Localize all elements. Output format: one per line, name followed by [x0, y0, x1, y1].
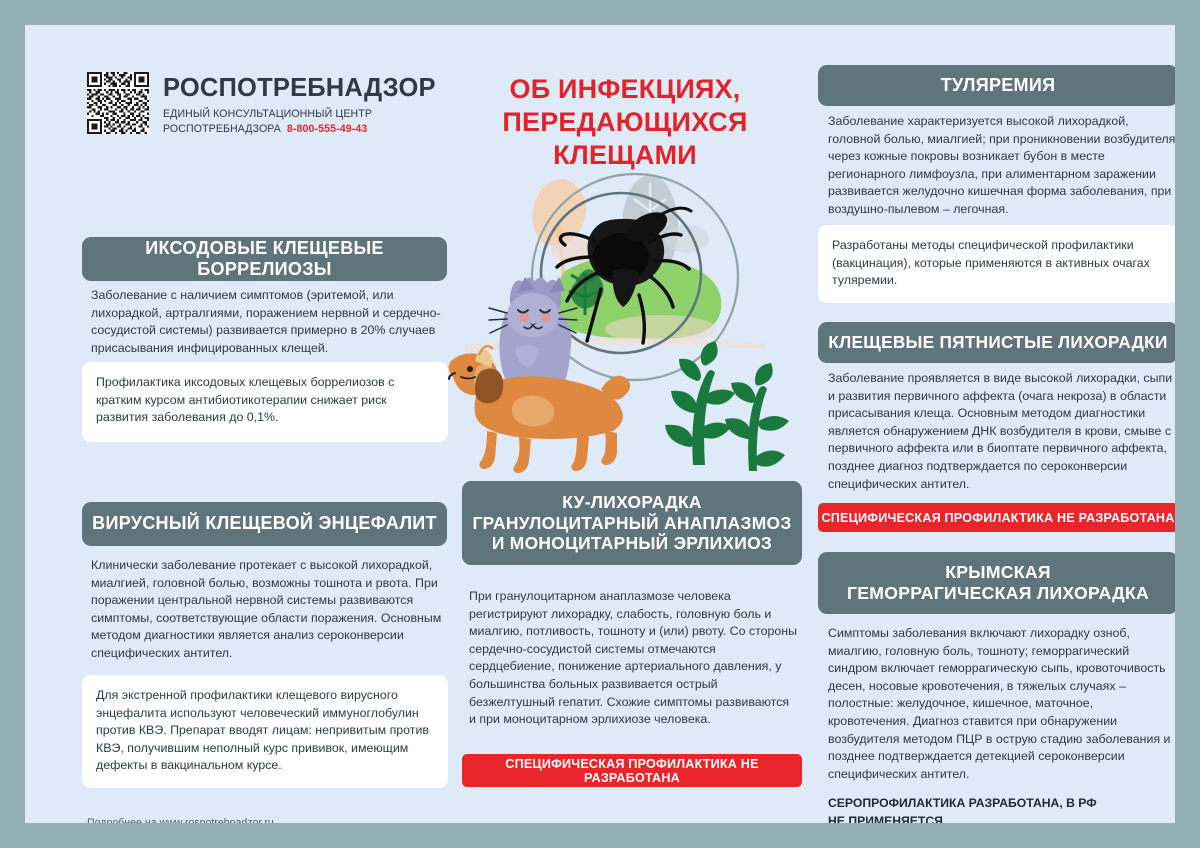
section-heading-qfever-line3: И МОНОЦИТАРНЫЙ ЭРЛИХИОЗ — [472, 533, 791, 554]
page-title-line2: ПЕРЕДАЮЩИХСЯ КЛЕЩАМИ — [430, 106, 820, 172]
section-heading-cchf-line2: ГЕМОРРАГИЧЕСКАЯ ЛИХОРАДКА — [847, 583, 1149, 604]
section-heading-cchf: КРЫМСКАЯ ГЕМОРРАГИЧЕСКАЯ ЛИХОРАДКА — [818, 552, 1175, 614]
page-title: ОБ ИНФЕКЦИЯХ, ПЕРЕДАЮЩИХСЯ КЛЕЩАМИ — [430, 73, 820, 172]
status-badge-no-prophylaxis-qfever: СПЕЦИФИЧЕСКАЯ ПРОФИЛАКТИКА НЕ РАЗРАБОТАН… — [462, 754, 802, 787]
section-heading-qfever-line2: ГРАНУЛОЦИТАРНЫЙ АНАПЛАЗМОЗ — [472, 513, 791, 534]
section-heading-spotted-fevers: КЛЕЩЕВЫЕ ПЯТНИСТЫЕ ЛИХОРАДКИ — [818, 322, 1175, 363]
brand-subtitle-org: РОСПОТРЕБНАДЗОРА — [163, 123, 281, 135]
section-card-tularemia: Разработаны методы специфической профила… — [818, 225, 1175, 303]
section-note-cchf: СЕРОПРОФИЛАКТИКА РАЗРАБОТАНА, В РФ НЕ ПР… — [828, 795, 1175, 823]
brand-subtitle-line2: РОСПОТРЕБНАДЗОРА8-800-555-49-43 — [163, 123, 367, 135]
section-heading-borreliosis: ИКСОДОВЫЕ КЛЕЩЕВЫЕ БОРРЕЛИОЗЫ — [82, 237, 447, 281]
section-text-encephalitis: Клинически заболевание протекает с высок… — [91, 557, 443, 663]
section-heading-qfever: КУ-ЛИХОРАДКА ГРАНУЛОЦИТАРНЫЙ АНАПЛАЗМОЗ … — [462, 481, 802, 565]
brand-title: РОСПОТРЕБНАДЗОР — [163, 74, 436, 103]
section-note-cchf-line1: СЕРОПРОФИЛАКТИКА РАЗРАБОТАНА, В РФ — [828, 795, 1175, 813]
hotline-phone[interactable]: 8-800-555-49-43 — [287, 123, 367, 135]
section-note-cchf-line2: НЕ ПРИМЕНЯЕТСЯ — [828, 813, 1175, 823]
section-text-cchf: Симптомы заболевания включают лихорадку … — [828, 625, 1175, 783]
tick-illustration — [425, 165, 825, 485]
section-card-encephalitis: Для экстренной профилактики клещевого ви… — [82, 675, 448, 788]
page-title-line1: ОБ ИНФЕКЦИЯХ, — [430, 73, 820, 106]
section-text-spotted-fevers: Заболевание проявляется в виде высокой л… — [828, 370, 1175, 493]
section-text-tularemia: Заболевание характеризуется высокой лихо… — [828, 113, 1175, 219]
qr-code-icon — [87, 72, 149, 134]
poster-canvas: РОСПОТРЕБНАДЗОР ЕДИНЫЙ КОНСУЛЬТАЦИОННЫЙ … — [25, 25, 1175, 823]
brand-subtitle-line1: ЕДИНЫЙ КОНСУЛЬТАЦИОННЫЙ ЦЕНТР — [163, 108, 372, 120]
section-heading-cchf-line1: КРЫМСКАЯ — [847, 562, 1149, 583]
section-heading-encephalitis: ВИРУСНЫЙ КЛЕЩЕВОЙ ЭНЦЕФАЛИТ — [82, 502, 447, 546]
status-badge-no-prophylaxis-spotted-fevers: СПЕЦИФИЧЕСКАЯ ПРОФИЛАКТИКА НЕ РАЗРАБОТАН… — [818, 503, 1175, 532]
section-text-qfever: При гранулоцитарном анаплазмозе человека… — [469, 588, 799, 729]
section-heading-qfever-line1: КУ-ЛИХОРАДКА — [472, 492, 791, 513]
plant-icon — [665, 341, 789, 471]
section-heading-tularemia: ТУЛЯРЕМИЯ — [818, 65, 1175, 106]
section-card-borreliosis: Профилактика иксодовых клещевых боррелио… — [82, 362, 448, 442]
brand-block: РОСПОТРЕБНАДЗОР ЕДИНЫЙ КОНСУЛЬТАЦИОННЫЙ … — [87, 72, 417, 152]
footer-website-note[interactable]: Подробнее на www.rospotrebnadzor.ru — [87, 817, 274, 823]
section-text-borreliosis: Заболевание с наличием симптомов (эритем… — [91, 287, 443, 357]
